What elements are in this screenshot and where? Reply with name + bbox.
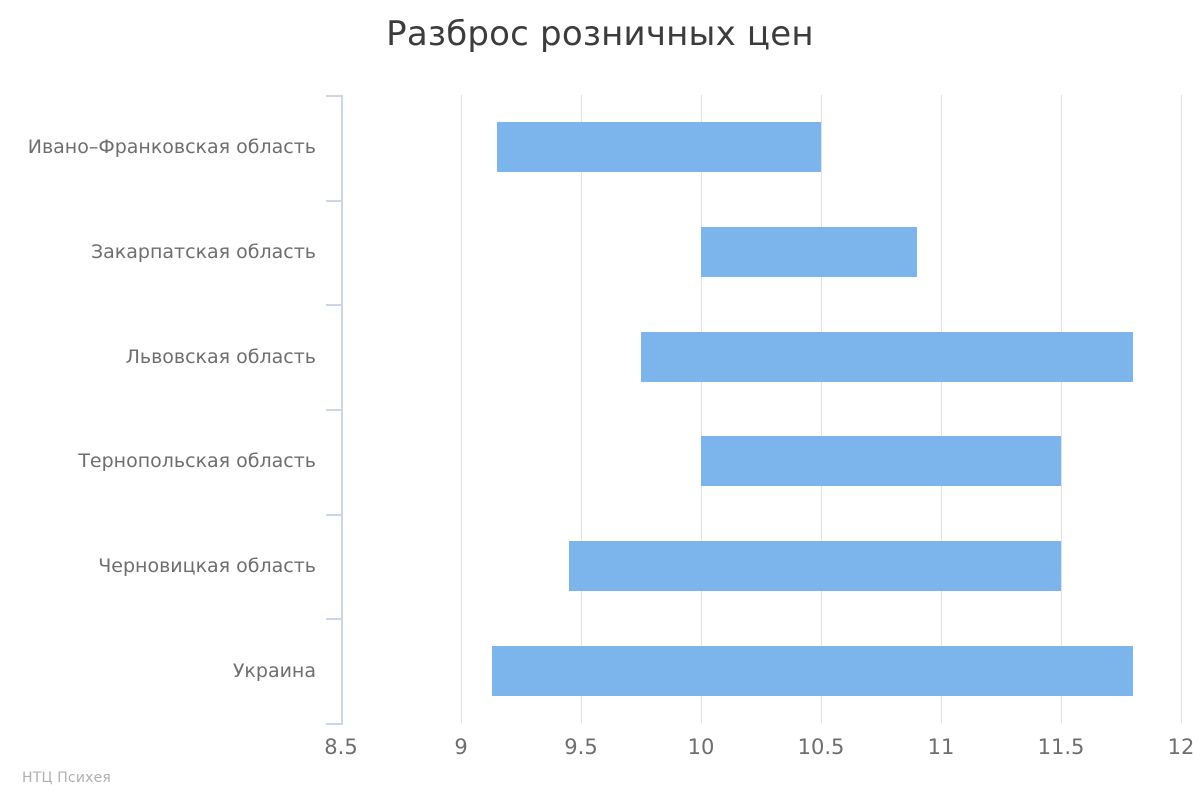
gridline xyxy=(1061,95,1062,723)
chart-title: Разброс розничных цен xyxy=(0,14,1200,54)
x-axis-tick-label: 9 xyxy=(454,735,467,759)
y-axis-category-label: Львовская область xyxy=(0,346,326,368)
gridline xyxy=(581,95,582,723)
y-axis-category-label: Тернопольская область xyxy=(0,450,326,472)
x-axis-tick-label: 10 xyxy=(688,735,715,759)
chart-container: Разброс розничных цен Ивано–Франковская … xyxy=(0,0,1200,800)
x-axis-tick-label: 10.5 xyxy=(798,735,845,759)
bar[interactable] xyxy=(492,646,1133,696)
gridline xyxy=(821,95,822,723)
y-axis-category-label: Черновицкая область xyxy=(0,555,326,577)
source-footer: НТЦ Психея xyxy=(22,770,111,786)
x-axis-tick-label: 8.5 xyxy=(324,735,357,759)
gridline xyxy=(941,95,942,723)
y-axis-category-label: Ивано–Франковская область xyxy=(0,136,326,158)
y-axis-tick xyxy=(326,514,343,516)
y-axis-tick xyxy=(326,200,343,202)
bar[interactable] xyxy=(701,436,1061,486)
x-axis-tick-label: 11 xyxy=(928,735,955,759)
bar[interactable] xyxy=(497,122,821,172)
bar[interactable] xyxy=(701,227,917,277)
y-axis-tick xyxy=(326,304,343,306)
bar[interactable] xyxy=(641,332,1133,382)
x-axis-tick-label: 11.5 xyxy=(1038,735,1085,759)
gridline xyxy=(1181,95,1182,723)
plot-area xyxy=(341,95,1181,723)
x-axis-tick-label: 12 xyxy=(1168,735,1195,759)
y-axis-tick xyxy=(326,723,343,725)
y-axis-category-label: Украина xyxy=(0,660,326,682)
gridline xyxy=(701,95,702,723)
bar[interactable] xyxy=(569,541,1061,591)
y-axis-tick xyxy=(326,409,343,411)
y-axis-category-label: Закарпатская область xyxy=(0,241,326,263)
y-axis-tick xyxy=(326,95,343,97)
x-axis-tick-label: 9.5 xyxy=(564,735,597,759)
y-axis-tick xyxy=(326,618,343,620)
gridline xyxy=(461,95,462,723)
